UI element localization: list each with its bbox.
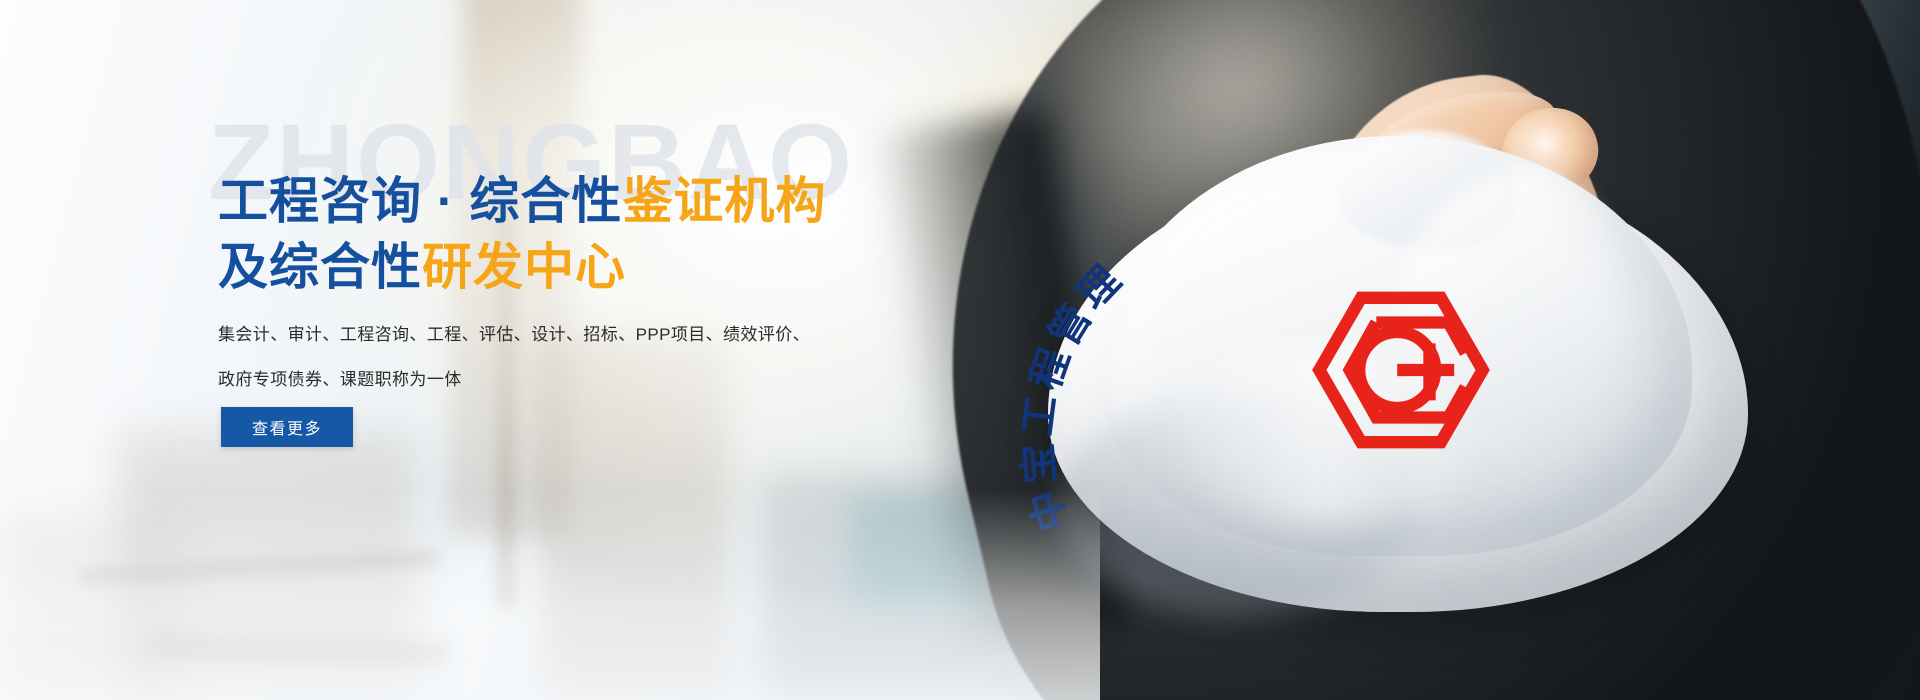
page-title: 工程咨询 · 综合性鉴证机构 及综合性研发中心 [218, 168, 826, 300]
hard-hat-brand-text: 中宝工程管理 [1050, 188, 1480, 588]
hero-banner: 中宝工程管理 ZHONGBAO 工程咨询 · 综合性鉴证机构 及综合性研发中心 … [0, 0, 1920, 700]
headline-line1-blue: 工程咨询 · 综合性 [218, 173, 622, 229]
view-more-button[interactable]: 查看更多 [221, 407, 353, 447]
headline-line2-blue: 及综合性 [218, 239, 422, 295]
headline-line2-orange: 研发中心 [422, 239, 626, 295]
description-line-2: 政府专项债券、课题职称为一体 [218, 357, 858, 402]
hard-hat: 中宝工程管理 [1038, 96, 1768, 656]
description-line-1: 集会计、审计、工程咨询、工程、评估、设计、招标、PPP项目、绩效评价、 [218, 312, 858, 357]
description-text: 集会计、审计、工程咨询、工程、评估、设计、招标、PPP项目、绩效评价、 政府专项… [218, 312, 858, 402]
headline-line1-orange: 鉴证机构 [622, 173, 826, 229]
blurred-structure-far-left [0, 520, 180, 700]
